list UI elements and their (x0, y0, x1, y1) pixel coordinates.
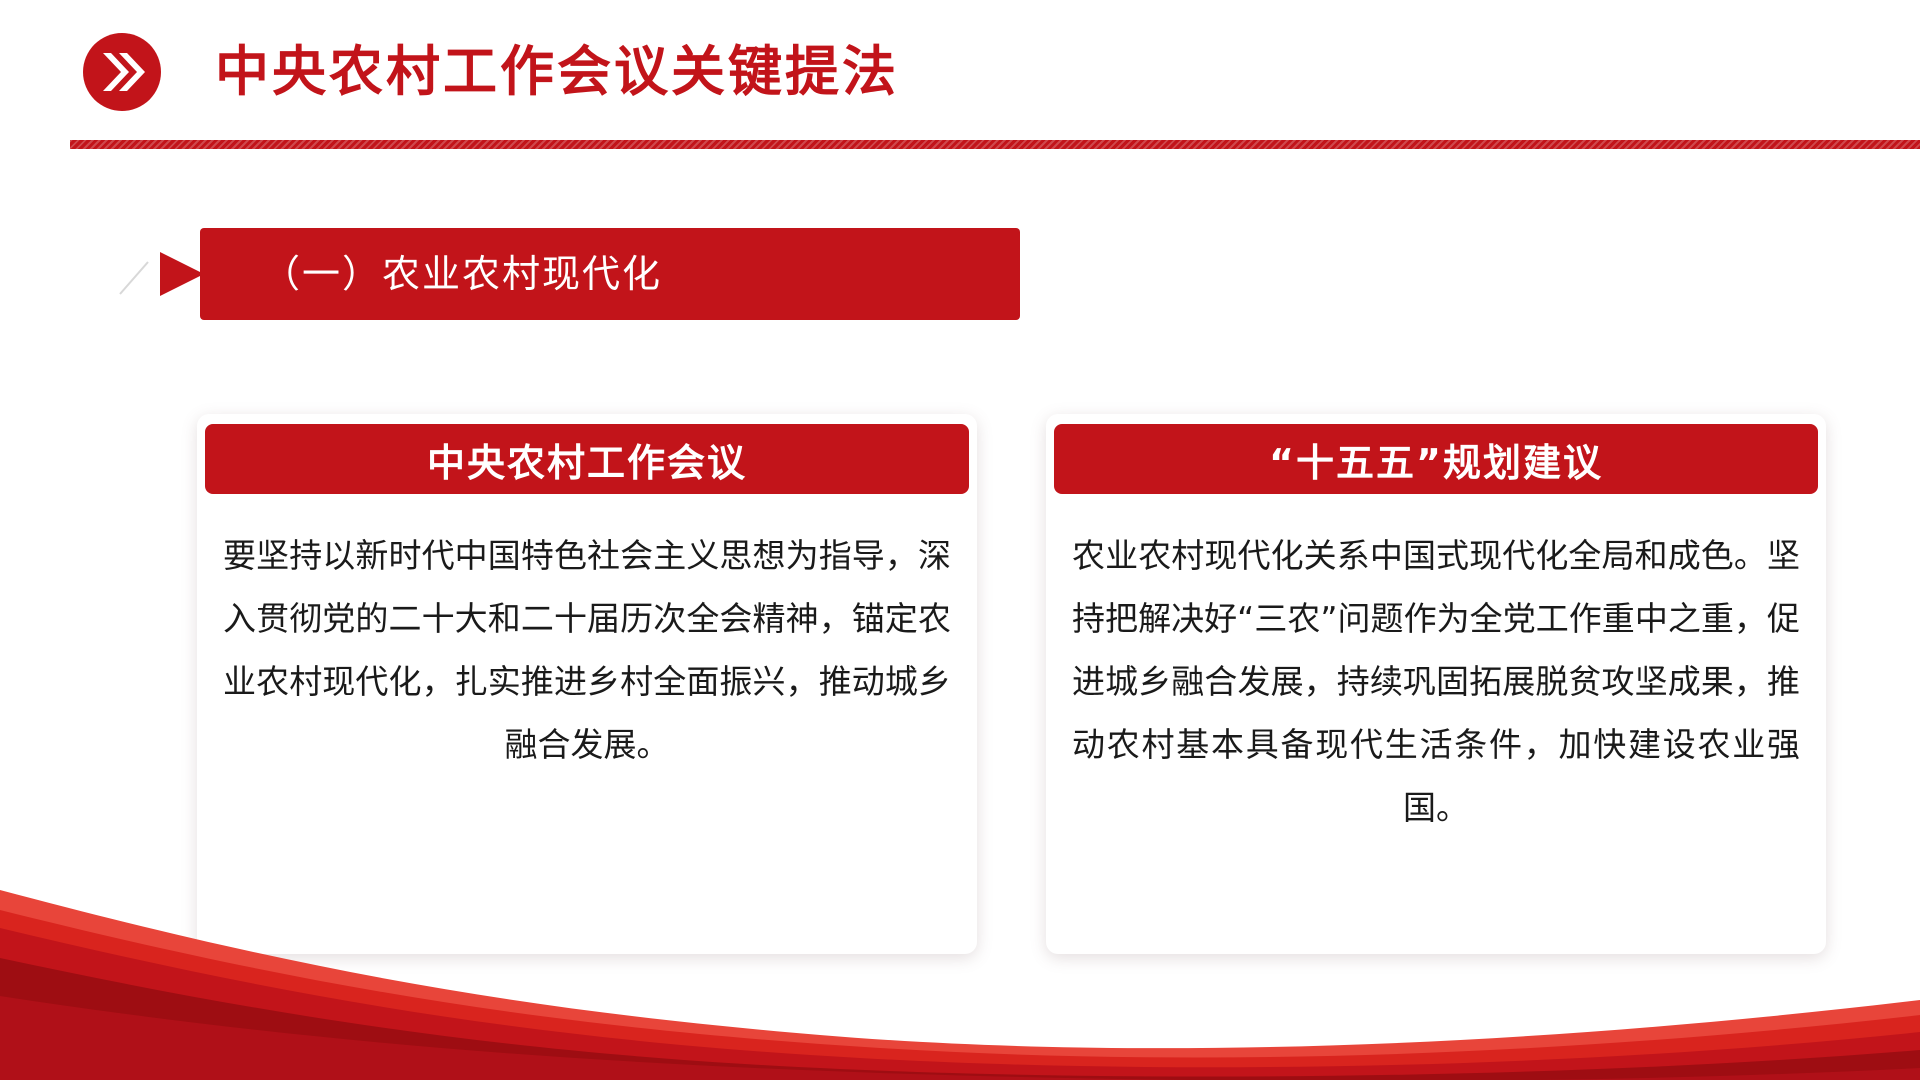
banner-arrow-icon (160, 252, 204, 296)
double-chevron-right-icon (97, 49, 147, 95)
logo-badge (83, 33, 161, 111)
card-central-rural-work-conference: 中央农村工作会议 要坚持以新时代中国特色社会主义思想为指导，深入贯彻党的二十大和… (197, 414, 977, 954)
card-header: 中央农村工作会议 (205, 424, 969, 494)
section-banner-label: （一）农业农村现代化 (262, 228, 662, 320)
card-15th-five-year-plan-proposal: “十五五”规划建议 农业农村现代化关系中国式现代化全局和成色。坚持把解决好“三农… (1046, 414, 1826, 954)
card-heading-label: 中央农村工作会议 (427, 432, 747, 487)
section-banner: （一）农业农村现代化 (160, 228, 1020, 320)
page-title: 中央农村工作会议关键提法 (215, 34, 899, 110)
card-header: “十五五”规划建议 (1054, 424, 1818, 494)
header-divider (70, 140, 1920, 149)
card-body-text: 农业农村现代化关系中国式现代化全局和成色。坚持把解决好“三农”问题作为全党工作重… (1072, 524, 1800, 839)
page-header: 中央农村工作会议关键提法 (0, 0, 1920, 150)
card-body-text: 要坚持以新时代中国特色社会主义思想为指导，深入贯彻党的二十大和二十届历次全会精神… (223, 524, 951, 776)
card-heading-label: “十五五”规划建议 (1269, 432, 1603, 487)
